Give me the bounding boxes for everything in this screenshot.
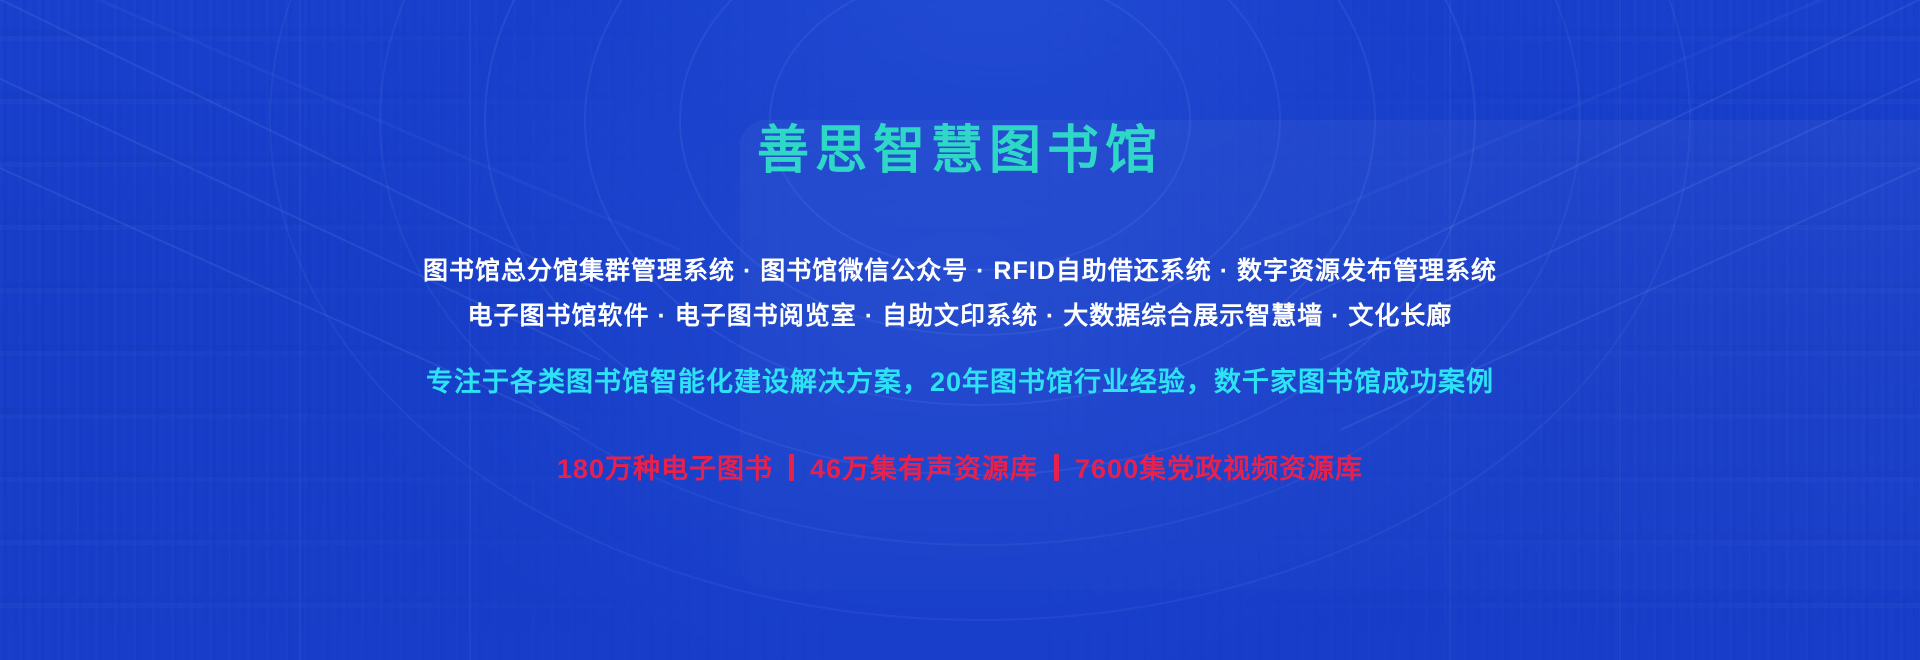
service-list: 图书馆总分馆集群管理系统 · 图书馆微信公众号 · RFID自助借还系统 · 数… (423, 255, 1497, 335)
stat-audio: 46万集有声资源库 (810, 447, 1038, 486)
hero-banner: 善思智慧图书馆 图书馆总分馆集群管理系统 · 图书馆微信公众号 · RFID自助… (0, 0, 1920, 660)
stat-ebooks: 180万种电子图书 (557, 447, 773, 486)
service-line-2: 电子图书馆软件 · 电子图书阅览室 · 自助文印系统 · 大数据综合展示智慧墙 … (423, 300, 1497, 334)
stat-video: 7600集党政视频资源库 (1075, 447, 1363, 486)
service-line-1: 图书馆总分馆集群管理系统 · 图书馆微信公众号 · RFID自助借还系统 · 数… (423, 255, 1497, 289)
banner-headline: 善思智慧图书馆 (757, 122, 1163, 182)
resource-stats: 180万种电子图书 46万集有声资源库 7600集党政视频资源库 (557, 447, 1363, 486)
banner-content: 善思智慧图书馆 图书馆总分馆集群管理系统 · 图书馆微信公众号 · RFID自助… (0, 0, 1920, 660)
stat-separator-icon (1054, 454, 1059, 481)
stat-separator-icon (789, 454, 794, 481)
banner-tagline: 专注于各类图书馆智能化建设解决方案，20年图书馆行业经验，数千家图书馆成功案例 (426, 360, 1494, 399)
